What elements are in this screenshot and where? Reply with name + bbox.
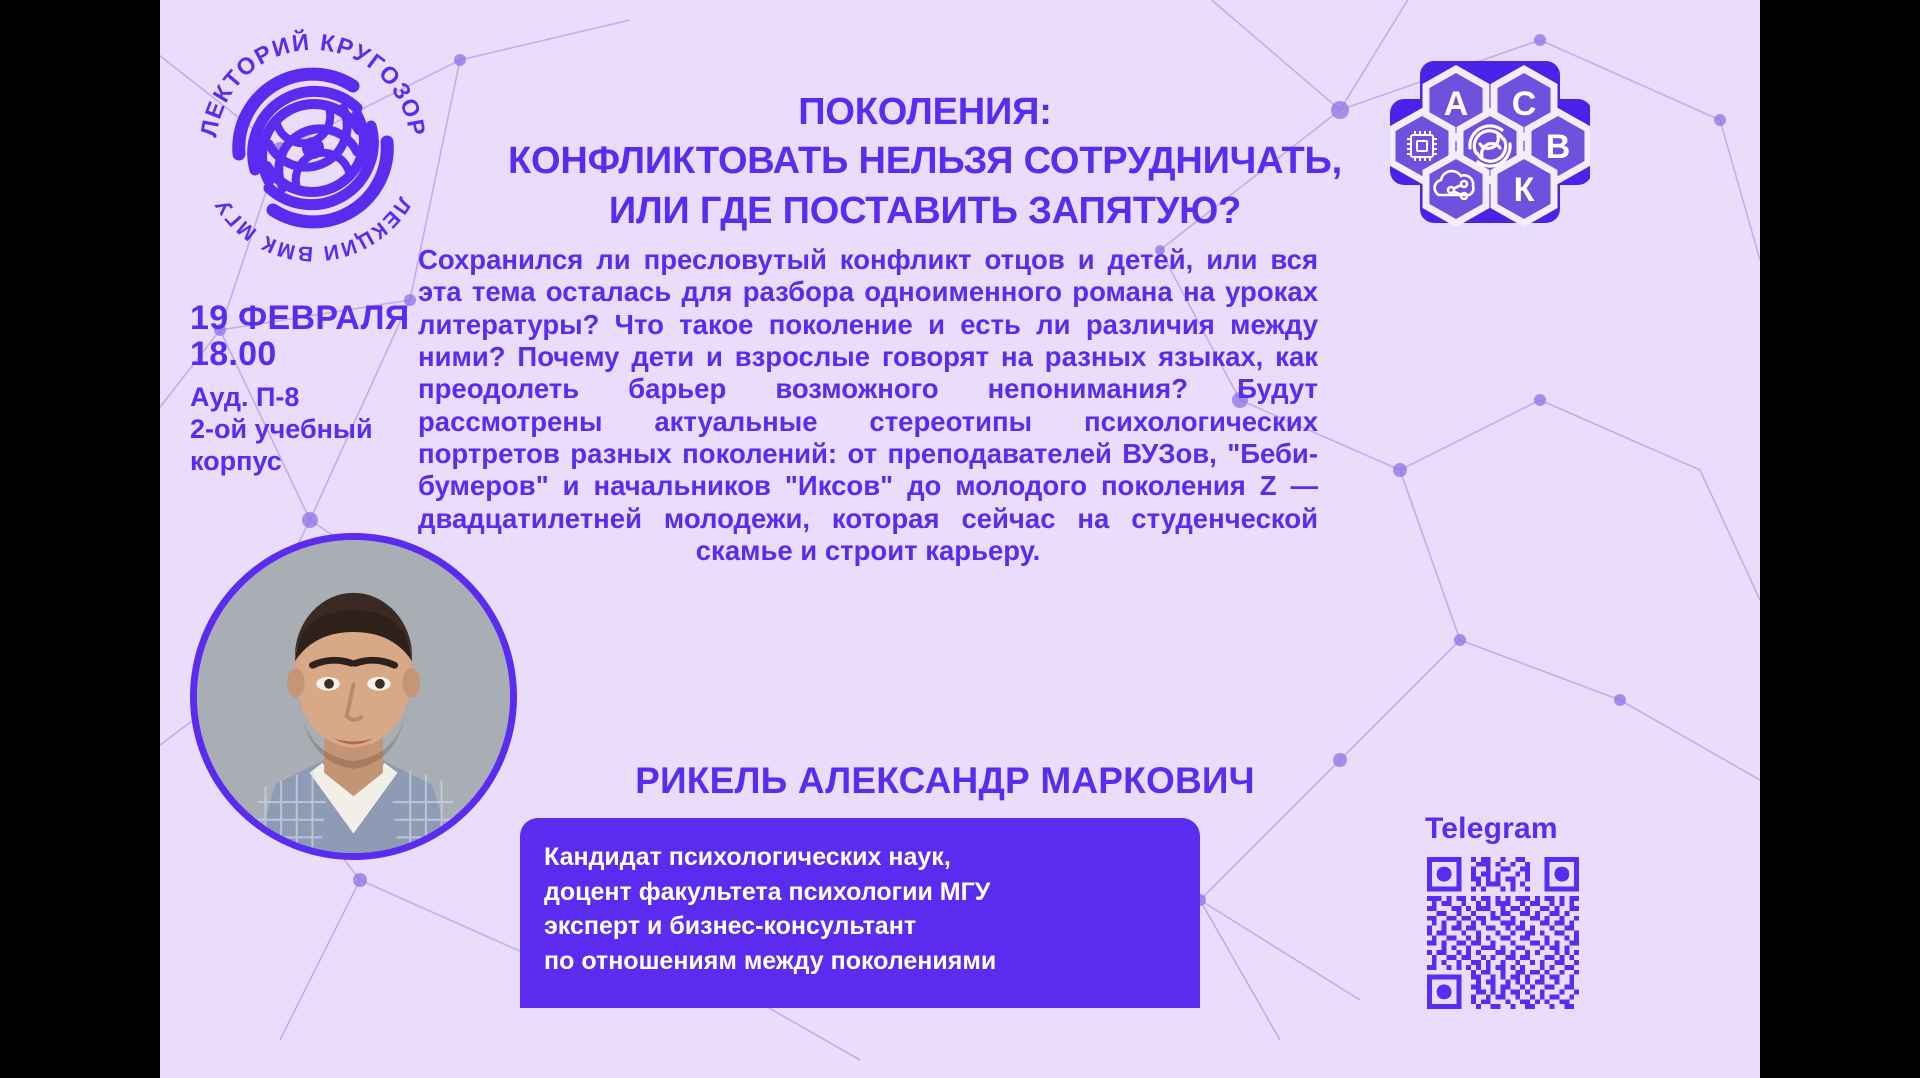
letterbox-left	[0, 0, 160, 1078]
hex-label-v: В	[1546, 128, 1571, 166]
title-line-2: КОНФЛИКТОВАТЬ НЕЛЬЗЯ СОТРУДНИЧАТЬ,	[395, 137, 1455, 186]
credential-line-2: доцент факультета психологии МГУ	[544, 875, 1200, 910]
speaker-portrait-illustration	[197, 540, 510, 853]
screenshot-stage: ЛЕКТОРИЙ КРУГОЗОР ЛЕКЦИИ ВМК МГУ	[0, 0, 1920, 1078]
asvk-hexagon-logo: А С В К	[1390, 55, 1590, 240]
event-poster: ЛЕКТОРИЙ КРУГОЗОР ЛЕКЦИИ ВМК МГУ	[160, 0, 1760, 1078]
speaker-credentials-box: Кандидат психологических наук, доцент фа…	[520, 818, 1200, 1008]
speaker-name: РИКЕЛЬ АЛЕКСАНДР МАРКОВИЧ	[530, 760, 1360, 802]
letterbox-right	[1760, 0, 1920, 1078]
speaker-photo	[190, 533, 517, 860]
hex-label-s: С	[1512, 85, 1537, 123]
event-date: 19 ФЕВРАЛЯ	[190, 300, 440, 336]
credential-line-3: эксперт и бизнес-консультант	[544, 909, 1200, 944]
hex-label-a: А	[1444, 85, 1469, 123]
event-description-text: Сохранился ли пресловутый конфликт отцов…	[418, 244, 1318, 567]
event-details: 19 ФЕВРАЛЯ 18.00 Ауд. П-8 2-ой учебный к…	[190, 300, 440, 478]
event-description: Сохранился ли пресловутый конфликт отцов…	[418, 244, 1318, 567]
telegram-label: Telegram	[1425, 812, 1625, 846]
page-title: ПОКОЛЕНИЯ: КОНФЛИКТОВАТЬ НЕЛЬЗЯ СОТРУДНИ…	[395, 88, 1455, 236]
event-room: Ауд. П-8	[190, 382, 440, 414]
event-building-line-2: корпус	[190, 446, 440, 478]
hex-label-k: К	[1514, 171, 1535, 209]
title-line-3: ИЛИ ГДЕ ПОСТАВИТЬ ЗАПЯТУЮ?	[395, 187, 1455, 236]
event-time: 18.00	[190, 336, 440, 372]
logo-spiral-eye-mark	[239, 74, 387, 222]
event-building-line-1: 2-ой учебный	[190, 414, 440, 446]
credential-line-4: по отношениям между поколениями	[544, 944, 1200, 979]
credential-line-1: Кандидат психологических наук,	[544, 840, 1200, 875]
telegram-qr-code[interactable]	[1422, 852, 1584, 1014]
title-line-1: ПОКОЛЕНИЯ:	[395, 88, 1455, 137]
